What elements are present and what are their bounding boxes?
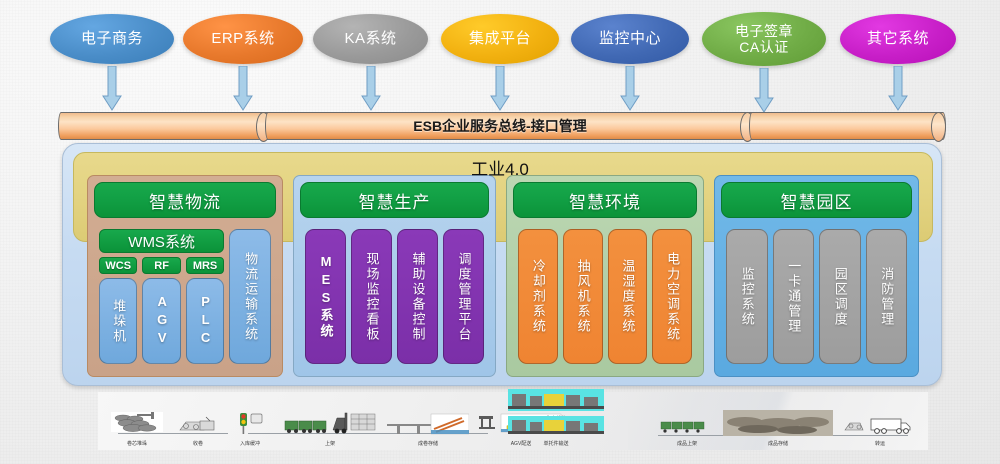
system-ellipse-erp[interactable]: ERP系统: [183, 14, 303, 64]
flow-item-rewinding: 收卷: [176, 414, 220, 447]
truck-icon: [843, 414, 917, 436]
industry40-title: 工业4.0: [0, 155, 1000, 180]
flow-item-inbound-buffer: 入库缓冲: [222, 412, 278, 447]
flow-item-finished-racking: 成品上架: [658, 416, 716, 447]
system-ellipse-label: ERP系统: [211, 30, 274, 47]
module-box-onsite-monitor-board[interactable]: 现场监控看板: [351, 229, 392, 364]
module-box-auxiliary-equipment-control[interactable]: 辅助设备控制: [397, 229, 438, 364]
connector-arrow-3: [360, 66, 382, 112]
module-box-power-hvac-system[interactable]: 电力空调系统: [652, 229, 692, 364]
column-header: 智慧物流: [94, 182, 276, 218]
column-body: 监控系统 一卡通管理 园区调度 消防管理: [721, 224, 912, 369]
column-body: WMS系统 WCS RF MRS 堆垛机 AGV PLC 物流运输系统: [94, 224, 276, 369]
system-ellipse-integration-platform[interactable]: 集成平台: [441, 14, 559, 64]
forklift-rack-icon: [283, 410, 377, 436]
flow-item-racking: 上架: [282, 410, 378, 447]
connector-arrow-4: [489, 66, 511, 112]
column-smart-environment[interactable]: 智慧环境 冷却剂系统 抽风机系统 温湿度系统 电力空调系统: [506, 175, 704, 377]
finished-rack-icon: [659, 416, 715, 436]
connector-arrow-6: [753, 68, 775, 114]
system-ellipse-label: 集成平台: [469, 30, 531, 47]
module-box-park-scheduling[interactable]: 园区调度: [819, 229, 861, 364]
column-header: 智慧生产: [300, 182, 489, 218]
module-box-mes[interactable]: MES系统: [305, 229, 346, 364]
esb-bus-label: ESB企业服务总线-接口管理: [0, 113, 1000, 139]
tag-rf[interactable]: RF: [142, 257, 180, 274]
flow-item-finished-storage: 成品存储: [722, 410, 834, 447]
module-box-coolant-system[interactable]: 冷却剂系统: [518, 229, 558, 364]
device-box-stacker[interactable]: 堆垛机: [99, 278, 137, 364]
flow-item-pallet-conveying: 单托件输送: [506, 416, 606, 447]
column-body: 冷却剂系统 抽风机系统 温湿度系统 电力空调系统: [513, 224, 697, 369]
system-ellipse-label: 其它系统: [867, 30, 929, 47]
flow-caption: 成卷存储: [386, 442, 470, 447]
system-ellipse-label: KA系统: [344, 30, 396, 47]
system-ellipse-ka[interactable]: KA系统: [313, 14, 428, 64]
flow-caption: 收卷: [176, 442, 220, 447]
flow-caption: 单托件输送: [506, 442, 606, 447]
system-ellipse-e-commerce[interactable]: 电子商务: [50, 14, 174, 64]
system-ellipse-label: 电子签章 CA认证: [735, 23, 793, 55]
flow-caption: 上架: [282, 442, 378, 447]
flow-caption: 成品存储: [722, 442, 834, 447]
rewinder-icon: [176, 414, 220, 436]
flow-item-transfer: 转运: [842, 414, 918, 447]
column-smart-production[interactable]: 智慧生产 MES系统 现场监控看板 辅助设备控制 调度管理平台: [293, 175, 496, 377]
coil-storage-icon: [387, 412, 469, 436]
process-flow-strip: 卷芯堆垛 收卷 入库缓冲: [98, 392, 928, 450]
module-box-fire-management[interactable]: 消防管理: [866, 229, 908, 364]
diagram-canvas: 电子商务 ERP系统 KA系统 集成平台 监控中心 电子签章 CA认证 其它系统…: [0, 0, 1000, 464]
wms-subsystem-tags: WCS RF MRS: [99, 257, 224, 274]
warehouse-photo-icon: [723, 410, 833, 436]
module-box-temp-humidity-system[interactable]: 温湿度系统: [608, 229, 648, 364]
system-ellipse-ca-signature[interactable]: 电子签章 CA认证: [702, 12, 826, 66]
production-line-icon: [508, 389, 604, 411]
column-header: 智慧园区: [721, 182, 912, 218]
system-ellipse-label: 监控中心: [599, 30, 661, 47]
flow-caption: 转运: [842, 442, 918, 447]
flow-item-coil-stacking: 卷芯堆垛: [106, 410, 168, 447]
tag-mrs[interactable]: MRS: [186, 257, 224, 274]
logistics-device-boxes: 堆垛机 AGV PLC: [99, 278, 224, 364]
system-ellipse-other-systems[interactable]: 其它系统: [840, 14, 956, 64]
column-smart-logistics[interactable]: 智慧物流 WMS系统 WCS RF MRS 堆垛机 AGV PLC: [87, 175, 283, 377]
device-box-plc[interactable]: PLC: [186, 278, 224, 364]
flow-item-coil-storage: 成卷存储: [386, 412, 470, 447]
system-ellipse-monitoring-center[interactable]: 监控中心: [571, 14, 689, 64]
connector-arrow-5: [619, 66, 641, 112]
logistics-transport-group: 物流运输系统: [229, 229, 271, 364]
device-box-agv[interactable]: AGV: [142, 278, 180, 364]
connector-arrow-1: [101, 66, 123, 112]
module-box-surveillance-system[interactable]: 监控系统: [726, 229, 768, 364]
flow-caption: 成品上架: [658, 442, 716, 447]
tag-wcs[interactable]: WCS: [99, 257, 137, 274]
connector-arrow-7: [887, 66, 909, 112]
logistics-left-group: WMS系统 WCS RF MRS 堆垛机 AGV PLC: [99, 229, 224, 364]
module-box-scheduling-platform[interactable]: 调度管理平台: [443, 229, 484, 364]
traffic-signal-icon: [232, 412, 268, 436]
module-box-exhaust-fan-system[interactable]: 抽风机系统: [563, 229, 603, 364]
column-header: 智慧环境: [513, 182, 697, 218]
column-smart-park[interactable]: 智慧园区 监控系统 一卡通管理 园区调度 消防管理: [714, 175, 919, 377]
module-box-onecard-management[interactable]: 一卡通管理: [773, 229, 815, 364]
system-ellipse-label: 电子商务: [81, 30, 143, 47]
device-box-transport-system[interactable]: 物流运输系统: [229, 229, 271, 364]
flow-caption: 入库缓冲: [222, 442, 278, 447]
pallet-conveyor-icon: [508, 416, 604, 436]
column-body: MES系统 现场监控看板 辅助设备控制 调度管理平台: [300, 224, 489, 369]
wms-system-box[interactable]: WMS系统: [99, 229, 224, 253]
connector-arrow-2: [232, 66, 254, 112]
coil-stack-icon: [109, 410, 165, 436]
flow-caption: 卷芯堆垛: [106, 442, 168, 447]
